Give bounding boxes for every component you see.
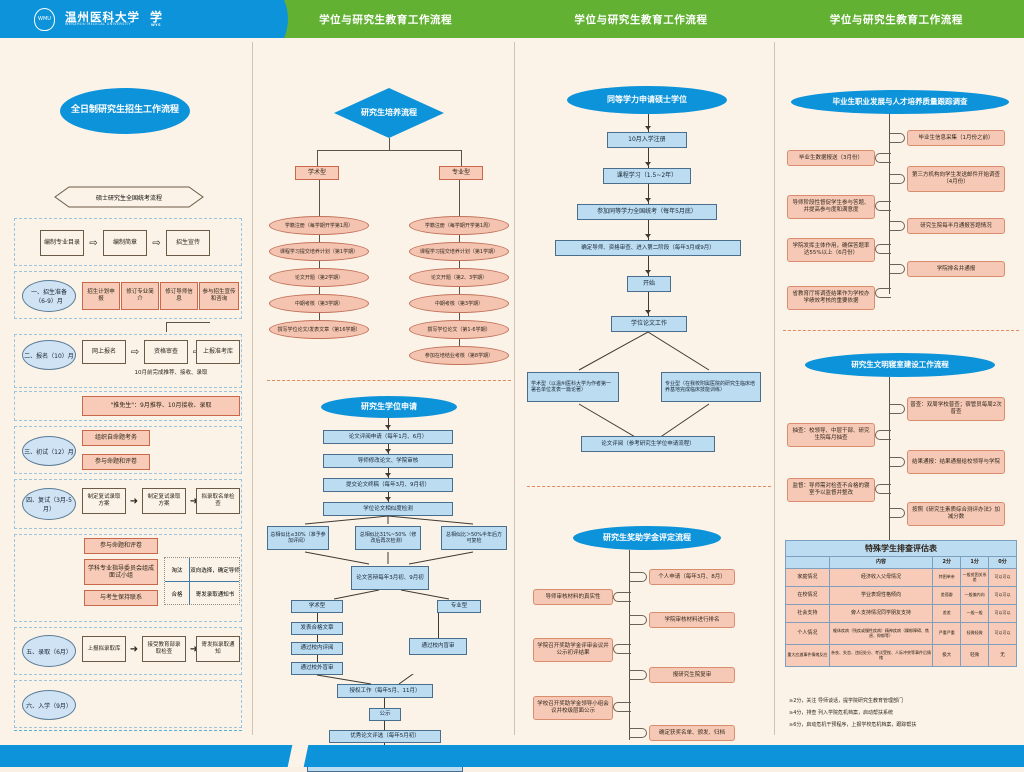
acad-line-3 xyxy=(319,287,320,294)
equal-branch-connectors xyxy=(519,332,779,444)
table-title: 特殊学生排查评估表 xyxy=(786,541,1017,557)
prof-line-3 xyxy=(459,287,460,294)
acad-step-2[interactable]: 课程学习提交培养计划（第1学期） xyxy=(269,242,369,261)
apply-step-1[interactable]: 论文评阅申请（每年1月、6月） xyxy=(323,430,453,444)
scholarship-title: 研究生奖助学金评定流程 xyxy=(573,526,721,550)
scholar-brk-r2 xyxy=(629,615,647,625)
table-th-1: 内容 xyxy=(829,557,933,569)
prof-step-5[interactable]: 撰写学位论文（第1-6学期） xyxy=(409,320,509,339)
dorm-title: 研究生文明寝室建设工作流程 xyxy=(805,353,995,377)
prep-box-2[interactable]: 编制简章 xyxy=(103,230,147,256)
scholar-left-3[interactable]: 学校召开奖助学金领导小组会议并校级层面公示 xyxy=(533,696,613,720)
table-r3-c3: 轻微轻微 xyxy=(961,623,989,645)
table-th-4: 0分 xyxy=(989,557,1017,569)
scholar-brk-r3 xyxy=(629,670,647,680)
tail-step-3[interactable]: 优秀论文评选（每年5月初） xyxy=(329,730,441,743)
acad-chain-ln-2 xyxy=(317,655,318,662)
prep-arrow-2: ⇨ xyxy=(148,236,165,250)
stage1-item-1[interactable]: 招生计划申报 xyxy=(82,282,120,310)
dorm-left-2[interactable]: 监督：导师需对检查不合格的寝室予以监督并整改 xyxy=(787,478,875,502)
table-r1-c1: 学业表现性格倾向 xyxy=(829,587,933,605)
scholar-right-3[interactable]: 报研究生院复审 xyxy=(649,667,735,683)
acad-line-4 xyxy=(319,313,320,320)
defense-box[interactable]: 论文答辩每年3月初、9月初 xyxy=(351,566,429,590)
seal-text: WMU xyxy=(38,17,51,22)
stage4-arrow-1: ➜ xyxy=(127,495,141,507)
special-students-table: 特殊学生排查评估表 内容 2分 1分 0分 家庭情况 经济收入父母情况 特困单亲… xyxy=(785,540,1017,667)
acad-chain-1[interactable]: 发表合格文章 xyxy=(291,622,343,635)
table-row: 家庭情况 经济收入父母情况 特困单亲 一般贫困关系差 可以可以 xyxy=(786,569,1017,587)
acad-step-3[interactable]: 论文开题（第2学期） xyxy=(269,268,369,287)
table-r0-c0: 家庭情况 xyxy=(786,569,830,587)
eq-arw-5 xyxy=(645,310,651,314)
header-title-bar: 学位与研究生教育工作流程 学位与研究生教育工作流程 学位与研究生教育工作流程 xyxy=(258,0,1024,38)
scholar-left-1[interactable]: 导师审核材料的真实性 xyxy=(533,589,613,605)
apply-arrow-3 xyxy=(385,497,391,501)
career-brk-r2 xyxy=(889,174,905,184)
table-row: 重大应激事件情绪反应 亲丧、失恋、违纪处分、考试受挫、人际冲突等事件后情绪 极大… xyxy=(786,645,1017,667)
prep-arrow-1: ⇨ xyxy=(85,236,102,250)
career-right-3[interactable]: 研究生院每半月通报答题情况 xyxy=(907,218,1005,234)
prof-line-1 xyxy=(459,235,460,242)
table-r3-c0: 个人情况 xyxy=(786,623,830,645)
equal-step-1[interactable]: 10月入学注册 xyxy=(607,132,687,148)
career-right-2[interactable]: 第三方机构向学生发送邮件开始调查（4月份） xyxy=(907,166,1005,192)
footer-notch-decoration xyxy=(288,745,309,767)
extra-item-3[interactable]: 与考生保持联系 xyxy=(84,590,158,606)
table-row: 个人情况 躯体疾病（残疾或慢性疾病）精神疾病（躁郁障碍、焦虑、抑郁等） 严重严重… xyxy=(786,623,1017,645)
stage4-item-1[interactable]: 制定复试录取方案 xyxy=(82,488,126,514)
stage4-item-2[interactable]: 制定复试录取方案 xyxy=(142,488,186,514)
equal-step-2[interactable]: 课程学习（1.5~2年） xyxy=(603,168,691,184)
table-th-2: 2分 xyxy=(933,557,961,569)
table-r2-c0: 社会支持 xyxy=(786,605,830,623)
dorm-brk-r2 xyxy=(889,457,905,467)
apply-arrow-2 xyxy=(385,473,391,477)
page-footer xyxy=(0,745,1024,767)
scholar-left-2[interactable]: 学院召开奖助学金评审会议并公示初评结果 xyxy=(533,638,613,662)
stage1-item-4[interactable]: 参与招生宣传和咨询 xyxy=(199,282,239,310)
table-title-row: 特殊学生排查评估表 xyxy=(786,541,1017,557)
column-equal-ability: 同等学力申请硕士学位 10月入学注册 课程学习（1.5~2年） 参加同等学力全国… xyxy=(519,38,779,745)
poster-page: WMU 温州医科大学 WENZHOU MEDICAL UNIVERSITY 学 … xyxy=(0,0,1024,767)
career-left-1[interactable]: 毕业生数据报送（3月份） xyxy=(787,150,875,166)
stage2-item-3[interactable]: 上报准考库 xyxy=(196,340,240,364)
table-th-0 xyxy=(786,557,830,569)
dorm-brk-r3 xyxy=(889,508,905,518)
career-left-4[interactable]: 省教育厅将调查结果作为学校办学绩效考核的重要依据 xyxy=(787,286,875,310)
table-r3-c1: 躯体疾病（残疾或慢性疾病）精神疾病（躁郁障碍、焦虑、抑郁等） xyxy=(829,623,933,645)
col3-section-divider xyxy=(527,486,771,487)
acad-step-1[interactable]: 学籍注册（每学期开学第1周） xyxy=(269,216,369,235)
scholar-right-4[interactable]: 确定获奖名单、颁发、归档 xyxy=(649,725,735,741)
career-brk-l1 xyxy=(875,153,891,163)
header-title-1: 学位与研究生教育工作流程 xyxy=(258,0,513,38)
acad-chain-2[interactable]: 通过校内评阅 xyxy=(291,642,343,655)
tail-step-2[interactable]: 公示 xyxy=(369,708,401,721)
mini-table: 淘汰 双向选择，确定导师 合格 寄发录取通知书 xyxy=(164,557,240,605)
train-right-drop xyxy=(461,150,462,166)
table-r0-c2: 特困单亲 xyxy=(933,569,961,587)
equal-step-4[interactable]: 确定导师、资格审查、进入第二阶段（每年3月或9月） xyxy=(555,240,741,256)
col1-title-text: 全日制研究生招生工作流程 xyxy=(71,105,179,116)
prof-line-5 xyxy=(459,339,460,346)
column-divider-1 xyxy=(252,42,253,735)
stage5-arrow-1: ➜ xyxy=(127,643,141,655)
stage1-item-3[interactable]: 修订导师信息 xyxy=(160,282,198,310)
table-note-1: ≥2分，关注 导师谈话，提学院研究生教育管理部门 xyxy=(789,698,903,706)
header-title-2: 学位与研究生教育工作流程 xyxy=(513,0,768,38)
dorm-title-text: 研究生文明寝室建设工作流程 xyxy=(851,360,949,369)
career-brk-r1 xyxy=(889,133,905,143)
table-header-row: 内容 2分 1分 0分 xyxy=(786,557,1017,569)
prof-line-4 xyxy=(459,313,460,320)
table-r0-c4: 可以可以 xyxy=(989,569,1017,587)
stage3-item-2[interactable]: 参与命题和评卷 xyxy=(82,454,150,470)
tail-step-1[interactable]: 授权工作（每年5月、11月） xyxy=(337,684,433,698)
prof-step-1[interactable]: 学籍注册（每学期开学第1周） xyxy=(409,216,509,235)
stage4-label: 四、复试（3月-5月） xyxy=(22,488,76,520)
prof-chain-ln-0 xyxy=(438,613,439,638)
stage3-label: 三、初试（12）月 xyxy=(22,436,76,466)
dorm-left-1[interactable]: 抽查：校领导、中层干部、研究生院每月抽查 xyxy=(787,423,875,447)
table-r0-c1: 经济收入父母情况 xyxy=(829,569,933,587)
career-brk-r3 xyxy=(889,221,905,231)
scholar-brk-l1 xyxy=(613,592,631,602)
exempt-frame xyxy=(14,391,242,421)
extra-item-2[interactable]: 学科专业指导委员会组成面试小组 xyxy=(84,559,158,585)
table-r4-c2: 极大 xyxy=(933,645,961,667)
stage2-arrow-1: ⇨ xyxy=(127,345,143,359)
acad-line-0 xyxy=(319,180,320,216)
mini-table-r1-left: 淘汰 xyxy=(165,558,189,581)
dorm-right-3[interactable]: 按照《研究生素质综合测评办法》加减分数 xyxy=(907,502,1005,526)
prep-box-1[interactable]: 编制专业目录 xyxy=(40,230,84,256)
career-title: 毕业生职业发展与人才培养质量跟踪调查 xyxy=(791,90,1009,114)
table-r1-c2: 差孤僻 xyxy=(933,587,961,605)
table-r2-c2: 差差 xyxy=(933,605,961,623)
dorm-brk-l1 xyxy=(875,430,891,440)
tail-merge-connectors xyxy=(259,674,519,686)
stage1-label: 一、招生准备（6-9）月 xyxy=(22,280,76,312)
career-right-1[interactable]: 毕业生信息采集（1月份之前） xyxy=(907,130,1005,146)
col3-title-ellipse: 同等学力申请硕士学位 xyxy=(567,86,727,114)
page-header: WMU 温州医科大学 WENZHOU MEDICAL UNIVERSITY 学 … xyxy=(0,0,1024,38)
stage2-item-2[interactable]: 资格审查 xyxy=(144,340,188,364)
tail-ln-1 xyxy=(384,698,385,708)
prep-box-3[interactable]: 招生宣传 xyxy=(166,230,210,256)
eq-arw-0 xyxy=(645,126,651,130)
stage1-connector-h xyxy=(166,322,210,323)
table-r4-c0: 重大应激事件情绪反应 xyxy=(786,645,830,667)
table-r2-c4: 可以可以 xyxy=(989,605,1017,623)
acad-step-5[interactable]: 撰写学位论文/发表文章（第16学期） xyxy=(269,320,369,339)
table-th-3: 1分 xyxy=(961,557,989,569)
scholar-right-2[interactable]: 学院审核材料进行排名 xyxy=(649,612,735,628)
national-exam-label: 硕士研究生全国统考流程 xyxy=(54,186,204,208)
brand-mark-sub: WYS xyxy=(150,24,162,28)
table-r4-c1: 亲丧、失恋、违纪处分、考试受挫、人际冲突等事件后情绪 xyxy=(829,645,933,667)
career-left-3[interactable]: 学院发挥主体作用，确保答题率达55%以上（6月份） xyxy=(787,238,875,262)
table-r1-c4: 可以可以 xyxy=(989,587,1017,605)
table-r3-c4: 可以可以 xyxy=(989,623,1017,645)
table-r4-c4: 无 xyxy=(989,645,1017,667)
career-brk-r4 xyxy=(889,264,905,274)
header-title-3: 学位与研究生教育工作流程 xyxy=(769,0,1024,38)
dorm-brk-l2 xyxy=(875,484,891,494)
stage1-item-2[interactable]: 修订专业简介 xyxy=(121,282,159,310)
extra-item-1[interactable]: 参与命题和评卷 xyxy=(84,538,158,554)
stage4-item-3[interactable]: 拟录取名单检查 xyxy=(196,488,240,514)
table-r4-c3: 轻微 xyxy=(961,645,989,667)
columns-container: 全日制研究生招生工作流程 硕士研究生全国统考流程 编制专业目录 ⇨ 编制简章 ⇨… xyxy=(0,38,1024,745)
stage2-item-1[interactable]: 网上报名 xyxy=(82,340,126,364)
col2-title-diamond: 研究生培养流程 xyxy=(334,88,444,138)
acad-chain-ln-1 xyxy=(317,635,318,642)
col2-section-divider xyxy=(267,380,511,381)
scholar-right-1[interactable]: 个人申请（每年3月、8月） xyxy=(649,569,735,585)
header-curve-decoration xyxy=(228,0,288,38)
brand-block: WMU 温州医科大学 WENZHOU MEDICAL UNIVERSITY 学 … xyxy=(0,0,258,38)
tail-branch-connectors xyxy=(259,590,519,606)
career-brk-l3 xyxy=(875,244,891,254)
university-seal-icon: WMU xyxy=(34,8,55,31)
scholarship-title-text: 研究生奖助学金评定流程 xyxy=(603,533,691,543)
prof-step-3[interactable]: 论文开题（第2、3学期） xyxy=(409,268,509,287)
column-career: 毕业生职业发展与人才培养质量跟踪调查 毕业生信息采集（1月份之前） 第三方机构向… xyxy=(779,38,1024,745)
prof-chain-1[interactable]: 通过校内盲审 xyxy=(409,638,467,655)
prof-line-0 xyxy=(459,180,460,216)
column-training: 研究生培养流程 学术型 专业型 学籍注册（每学期开学第1周） 课程学习提交培养计… xyxy=(259,38,519,745)
apply-step-3[interactable]: 提交论文终稿（每年3月、9月初） xyxy=(323,478,453,492)
table-r3-c2: 严重严重 xyxy=(933,623,961,645)
train-left-drop xyxy=(317,150,318,166)
scholar-brk-r1 xyxy=(629,572,647,582)
acad-line-2 xyxy=(319,261,320,268)
stage2-label: 二、报名（10）月 xyxy=(22,340,76,370)
university-name: 温州医科大学 WENZHOU MEDICAL UNIVERSITY xyxy=(65,11,140,27)
eq-arw-4 xyxy=(645,270,651,274)
train-split-v xyxy=(389,138,390,150)
stage5-item-3[interactable]: 寄发拟录取通知 xyxy=(196,636,240,662)
stage3-item-1[interactable]: 组织自命题考务 xyxy=(82,430,150,446)
tail-ln-2 xyxy=(384,721,385,730)
prof-line-2 xyxy=(459,261,460,268)
acad-step-4[interactable]: 中期考核（第3学期） xyxy=(269,294,369,313)
dorm-right-1[interactable]: 普查：双周学校普查；宿管员每周2次普查 xyxy=(907,397,1005,421)
prof-step-4[interactable]: 中期考核（第3学期） xyxy=(409,294,509,313)
table-r2-c1: 旁人支持情况同学朋友支持 xyxy=(829,605,933,623)
mini-table-r1-right: 双向选择，确定导师 xyxy=(190,558,240,581)
career-right-4[interactable]: 学院排名并通报 xyxy=(907,261,1005,277)
career-brk-l4 xyxy=(875,288,891,298)
degree-apply-title: 研究生学位申请 xyxy=(321,396,457,418)
brand-mark-icon: 学 WYS xyxy=(150,11,162,27)
dorm-brk-r1 xyxy=(889,404,905,414)
national-exam-hexagon: 硕士研究生全国统考流程 xyxy=(54,186,204,208)
branch-academic-tag: 学术型 xyxy=(295,166,339,180)
career-left-2[interactable]: 导师阶段性督促学生参与答题、并提高参与度和满意度 xyxy=(787,195,875,219)
scholar-brk-l3 xyxy=(613,702,631,712)
table-r2-c3: 一般一般 xyxy=(961,605,989,623)
mini-table-r2-right: 寄发录取通知书 xyxy=(190,582,240,605)
career-brk-l2 xyxy=(875,201,891,211)
equal-step-3[interactable]: 参加同等学力全国统考（每年5月底） xyxy=(577,204,717,220)
col1-bottom-dash xyxy=(14,730,242,731)
table-r1-c0: 在校情况 xyxy=(786,587,830,605)
stage5-item-2[interactable]: 接受教育部录取检查 xyxy=(142,636,186,662)
acad-chain-ln-0 xyxy=(317,613,318,622)
apply-arrow-1 xyxy=(385,449,391,453)
stage2-note: 10月前完成推荐、接收、录取 xyxy=(96,369,246,378)
table-r0-c3: 一般贫困关系差 xyxy=(961,569,989,587)
similarity-connectors xyxy=(259,514,519,566)
prof-step-6[interactable]: 参加在培结业考核（第8学期） xyxy=(409,346,509,365)
acad-line-1 xyxy=(319,235,320,242)
university-name-en: WENZHOU MEDICAL UNIVERSITY xyxy=(65,23,140,27)
stage6-label: 六、入学（9月） xyxy=(22,690,76,720)
train-split-h xyxy=(317,150,462,151)
apply-arrow-0 xyxy=(385,425,391,429)
dorm-right-2[interactable]: 结果通报：结果通报给校领导与学院 xyxy=(907,450,1005,474)
col4-section-divider xyxy=(783,330,1019,331)
brand-mark-glyph: 学 xyxy=(150,10,162,24)
stage5-item-1[interactable]: 上报拟录取库 xyxy=(82,636,126,662)
equal-final[interactable]: 论文评阅（参考研究生学位申请流程） xyxy=(581,436,715,452)
table-note-2: ≥4分，排查 列入学院危机档案，启动帮扶系统 xyxy=(789,710,893,718)
scholar-brk-l2 xyxy=(613,644,631,654)
col1-title-ellipse: 全日制研究生招生工作流程 xyxy=(60,88,190,134)
equal-step-6[interactable]: 学位论文工作 xyxy=(611,316,687,332)
eq-arw-3 xyxy=(645,234,651,238)
eq-arw-2 xyxy=(645,198,651,202)
table-row: 在校情况 学业表现性格倾向 差孤僻 一般偏内向 可以可以 xyxy=(786,587,1017,605)
degree-apply-title-text: 研究生学位申请 xyxy=(361,402,417,412)
table-note-3: ≥6分，启动危机干预程序，上报学校危机档案，跟踪帮扶 xyxy=(789,722,916,730)
table-row: 社会支持 旁人支持情况同学朋友支持 差差 一般一般 可以可以 xyxy=(786,605,1017,623)
col2-title-text: 研究生培养流程 xyxy=(361,108,417,118)
branch-professional-tag: 专业型 xyxy=(439,166,483,180)
prof-step-2[interactable]: 课程学习提交培养计划（第1学期） xyxy=(409,242,509,261)
mini-table-r2-left: 合格 xyxy=(165,582,189,605)
col3-title-text: 同等学力申请硕士学位 xyxy=(607,95,687,105)
equal-step-5[interactable]: 开始 xyxy=(627,276,671,292)
career-title-text: 毕业生职业发展与人才培养质量跟踪调查 xyxy=(833,97,968,106)
scholar-brk-r4 xyxy=(629,728,647,738)
table-r1-c3: 一般偏内向 xyxy=(961,587,989,605)
column-divider-2 xyxy=(514,42,515,735)
stage5-label: 五、录取（6月） xyxy=(22,635,76,667)
stage1-connector-v xyxy=(166,322,167,332)
apply-step-2[interactable]: 导师修改论文、学院审核 xyxy=(323,454,453,468)
eq-arw-1 xyxy=(645,162,651,166)
column-admissions: 全日制研究生招生工作流程 硕士研究生全国统考流程 编制专业目录 ⇨ 编制简章 ⇨… xyxy=(0,38,259,745)
